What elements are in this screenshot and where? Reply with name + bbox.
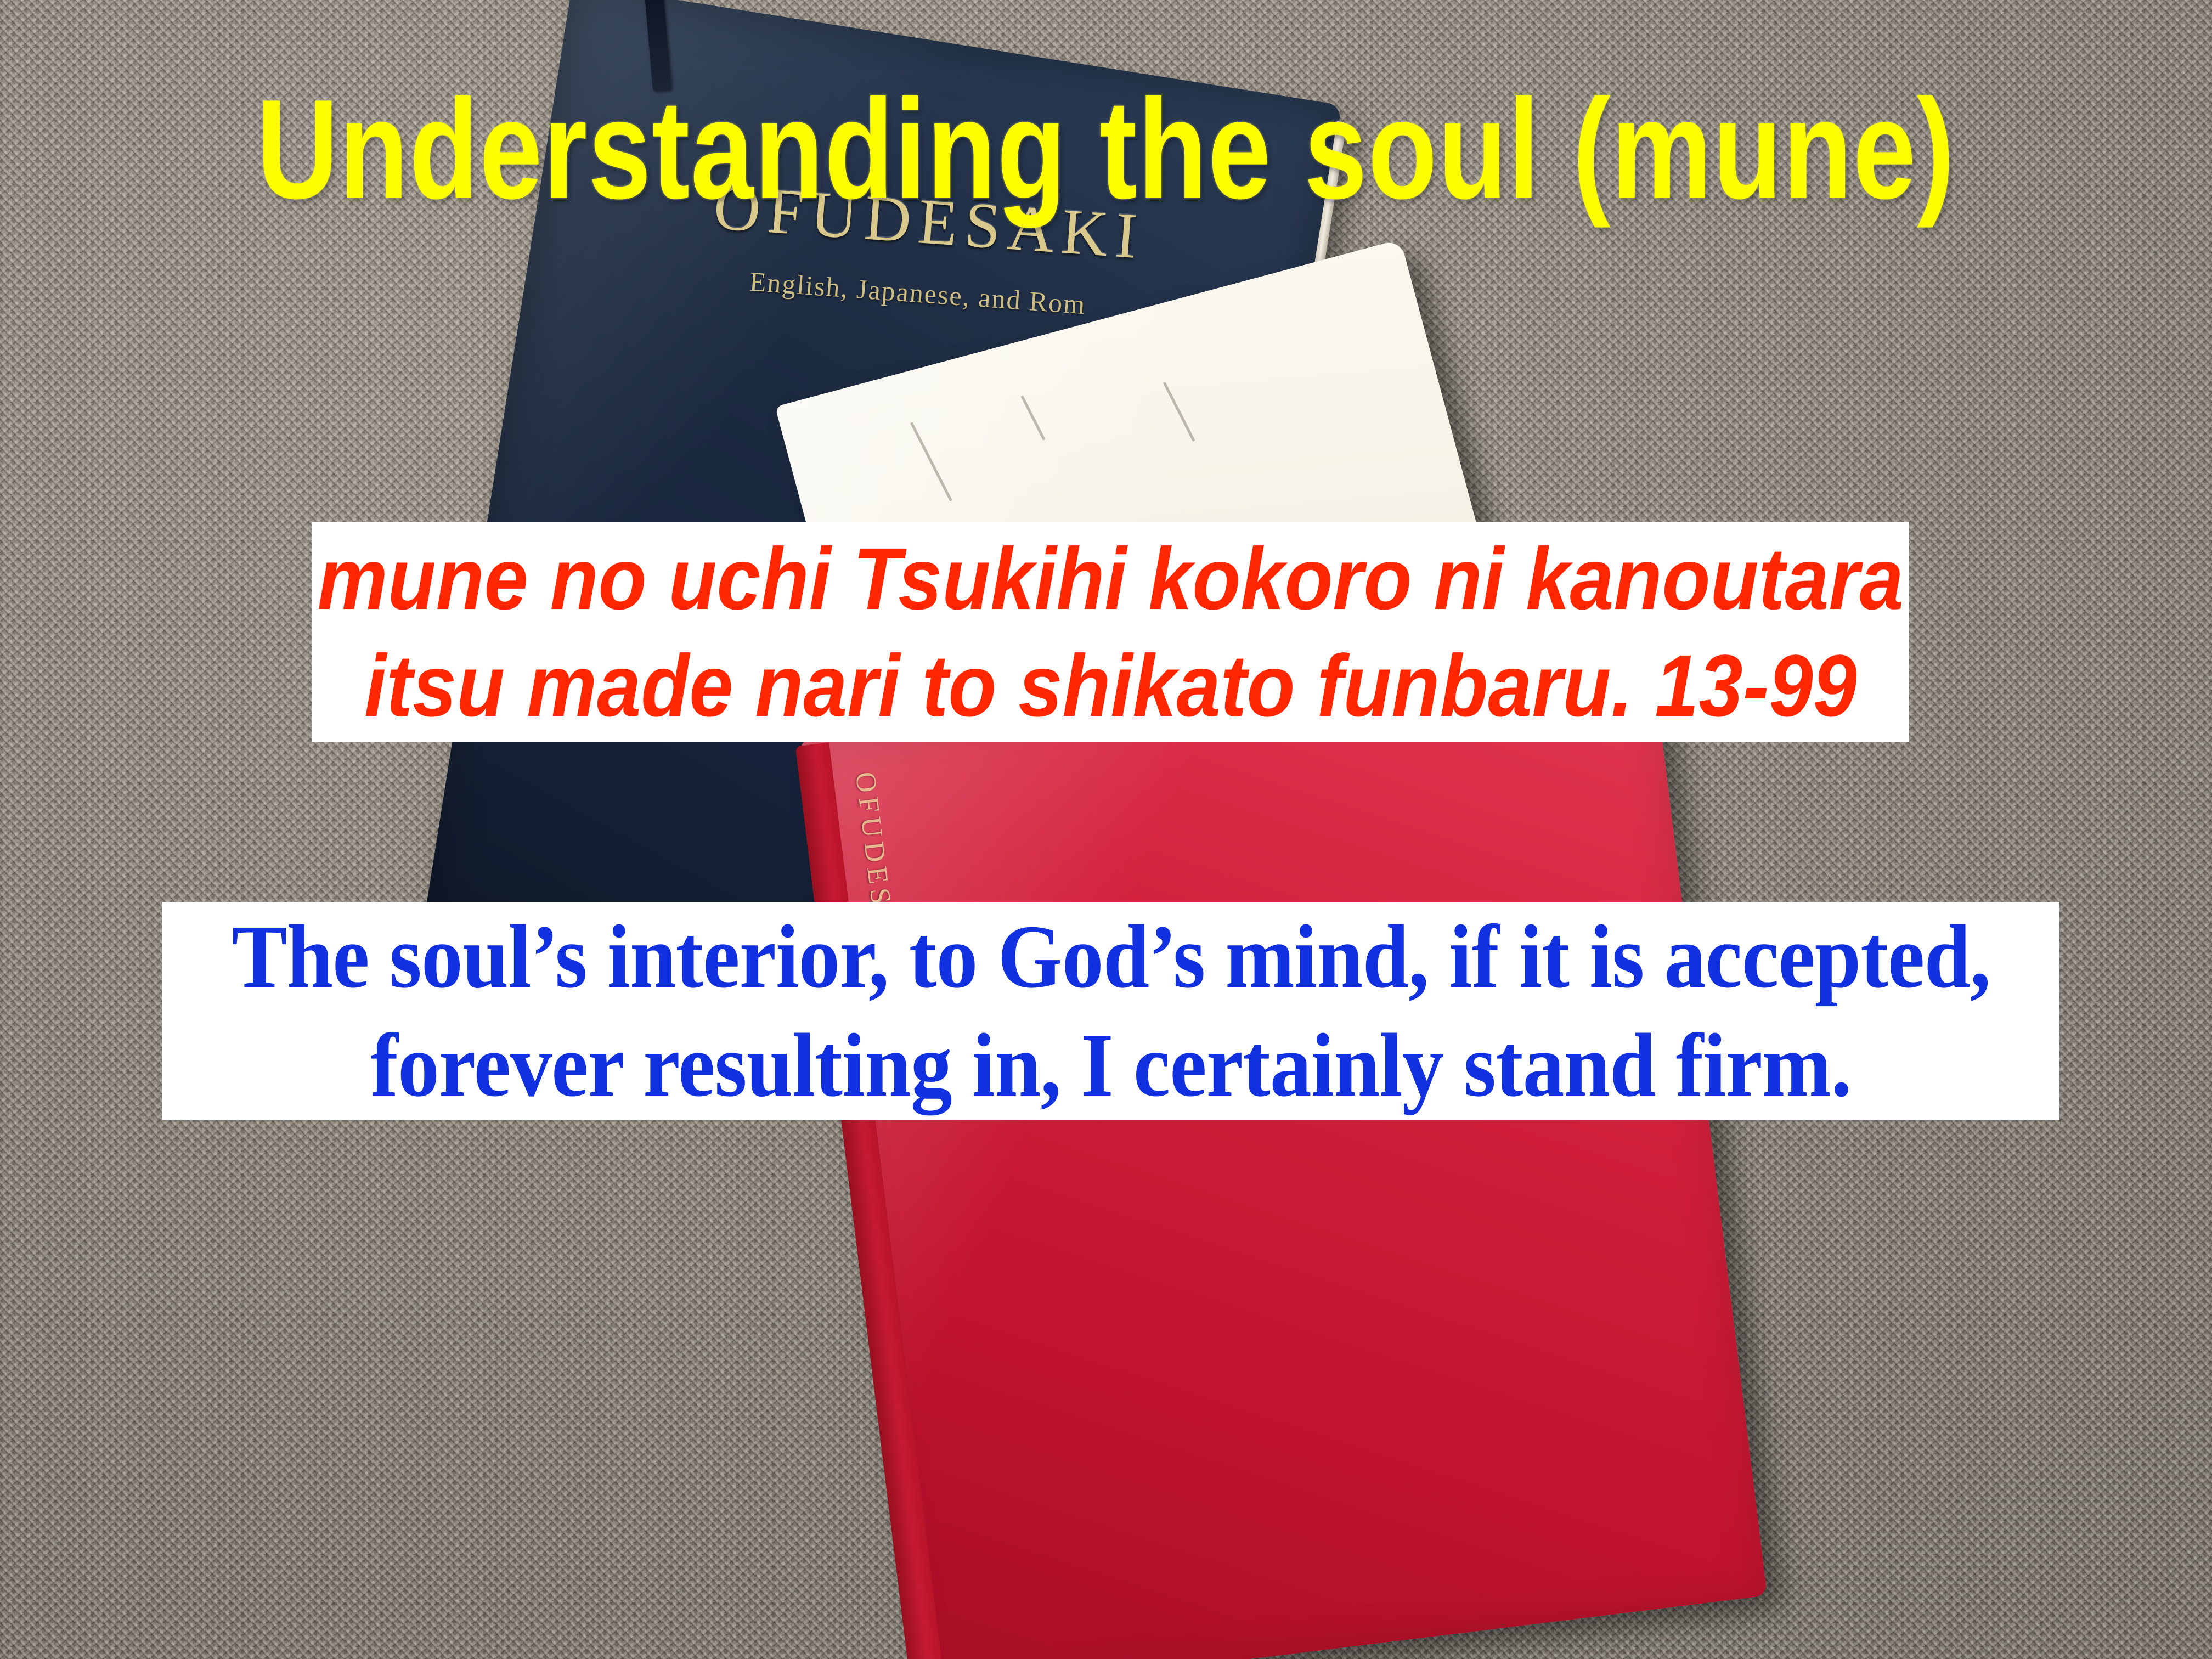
- romaji-quotation-box: mune no uchi Tsukihi kokoro ni kanoutara…: [312, 522, 1909, 742]
- english-translation-box: The soul’s interior, to God’s mind, if i…: [162, 902, 2059, 1120]
- book-red-ofudesaki: OFUDESAKI: [800, 637, 1768, 1659]
- romaji-line-2: itsu made nari to shikato funbaru. 13-99: [364, 632, 1857, 739]
- page-title: Understanding the soul (mune): [221, 77, 1991, 221]
- slide-canvas: OFUDESAKI English, Japanese, and Rom O: [0, 0, 2212, 1659]
- romaji-line-1: mune no uchi Tsukihi kokoro ni kanoutara: [317, 525, 1903, 632]
- english-line-2: forever resulting in, I certainly stand …: [370, 1011, 1851, 1120]
- english-line-1: The soul’s interior, to God’s mind, if i…: [232, 902, 1990, 1011]
